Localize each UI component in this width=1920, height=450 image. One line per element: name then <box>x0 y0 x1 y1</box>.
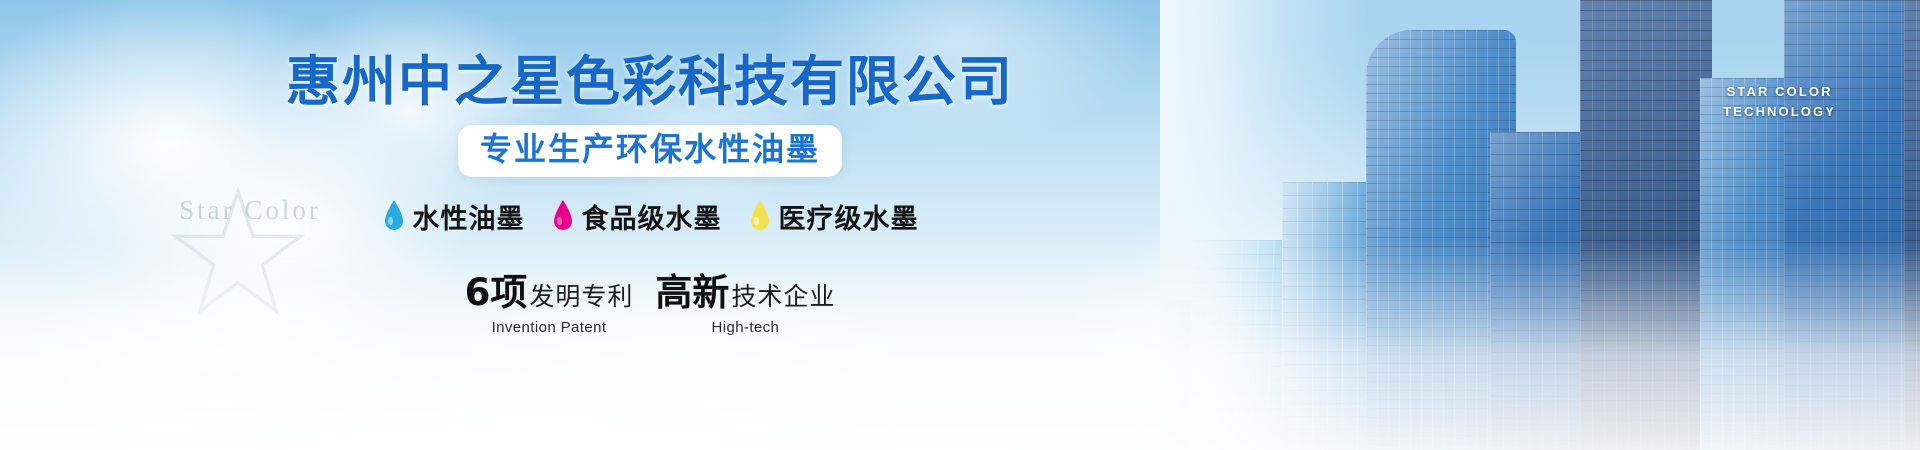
badge-high-tech: 高新 技术企业 High-tech <box>655 262 835 336</box>
credential-badges: 6项 发明专利 Invention Patent 高新 技术企业 High-te… <box>465 262 836 336</box>
feature-label: 医疗级水墨 <box>779 197 919 236</box>
feature-item: 食品级水墨 <box>551 197 722 236</box>
badge-weak-text: 发明专利 <box>529 277 633 313</box>
subtitle-pill: 专业生产环保水性油墨 <box>458 125 842 176</box>
product-feature-list: 水性油墨 食品级水墨 医疗级水墨 <box>382 197 919 236</box>
badge-invention-patent: 6项 发明专利 Invention Patent <box>465 262 634 336</box>
building-tower <box>1580 0 1712 450</box>
water-drop-icon <box>551 199 575 233</box>
building-tower <box>1904 0 1920 450</box>
water-drop-icon <box>382 199 406 233</box>
feature-item: 水性油墨 <box>382 197 525 236</box>
badge-main-line: 6项 发明专利 <box>465 262 634 316</box>
building-tower <box>1700 78 1796 450</box>
badge-english-caption: Invention Patent <box>465 319 634 336</box>
feature-item: 医疗级水墨 <box>748 197 919 236</box>
badge-strong-text: 6项 <box>465 262 528 316</box>
building-tower <box>1784 0 1920 450</box>
feature-label: 食品级水墨 <box>582 197 722 236</box>
badge-english-caption: High-tech <box>655 319 835 336</box>
badge-main-line: 高新 技术企业 <box>655 262 835 316</box>
banner-content: 惠州中之星色彩科技有限公司 专业生产环保水性油墨 水性油墨 食品级水墨 <box>0 0 1300 450</box>
company-name-headline: 惠州中之星色彩科技有限公司 <box>286 52 1014 112</box>
badge-strong-text: 高新 <box>655 262 729 316</box>
water-drop-icon <box>748 199 772 233</box>
building-tower <box>1490 132 1594 450</box>
subtitle-text: 专业生产环保水性油墨 <box>480 132 820 167</box>
star-color-technology-mark: STAR COLOR TECHNOLOGY <box>1723 82 1836 122</box>
feature-label: 水性油墨 <box>413 197 525 236</box>
company-hero-banner: Star Color STAR COLOR TECHNOLOGY 惠州中之星色彩… <box>0 0 1920 450</box>
badge-weak-text: 技术企业 <box>731 277 835 313</box>
